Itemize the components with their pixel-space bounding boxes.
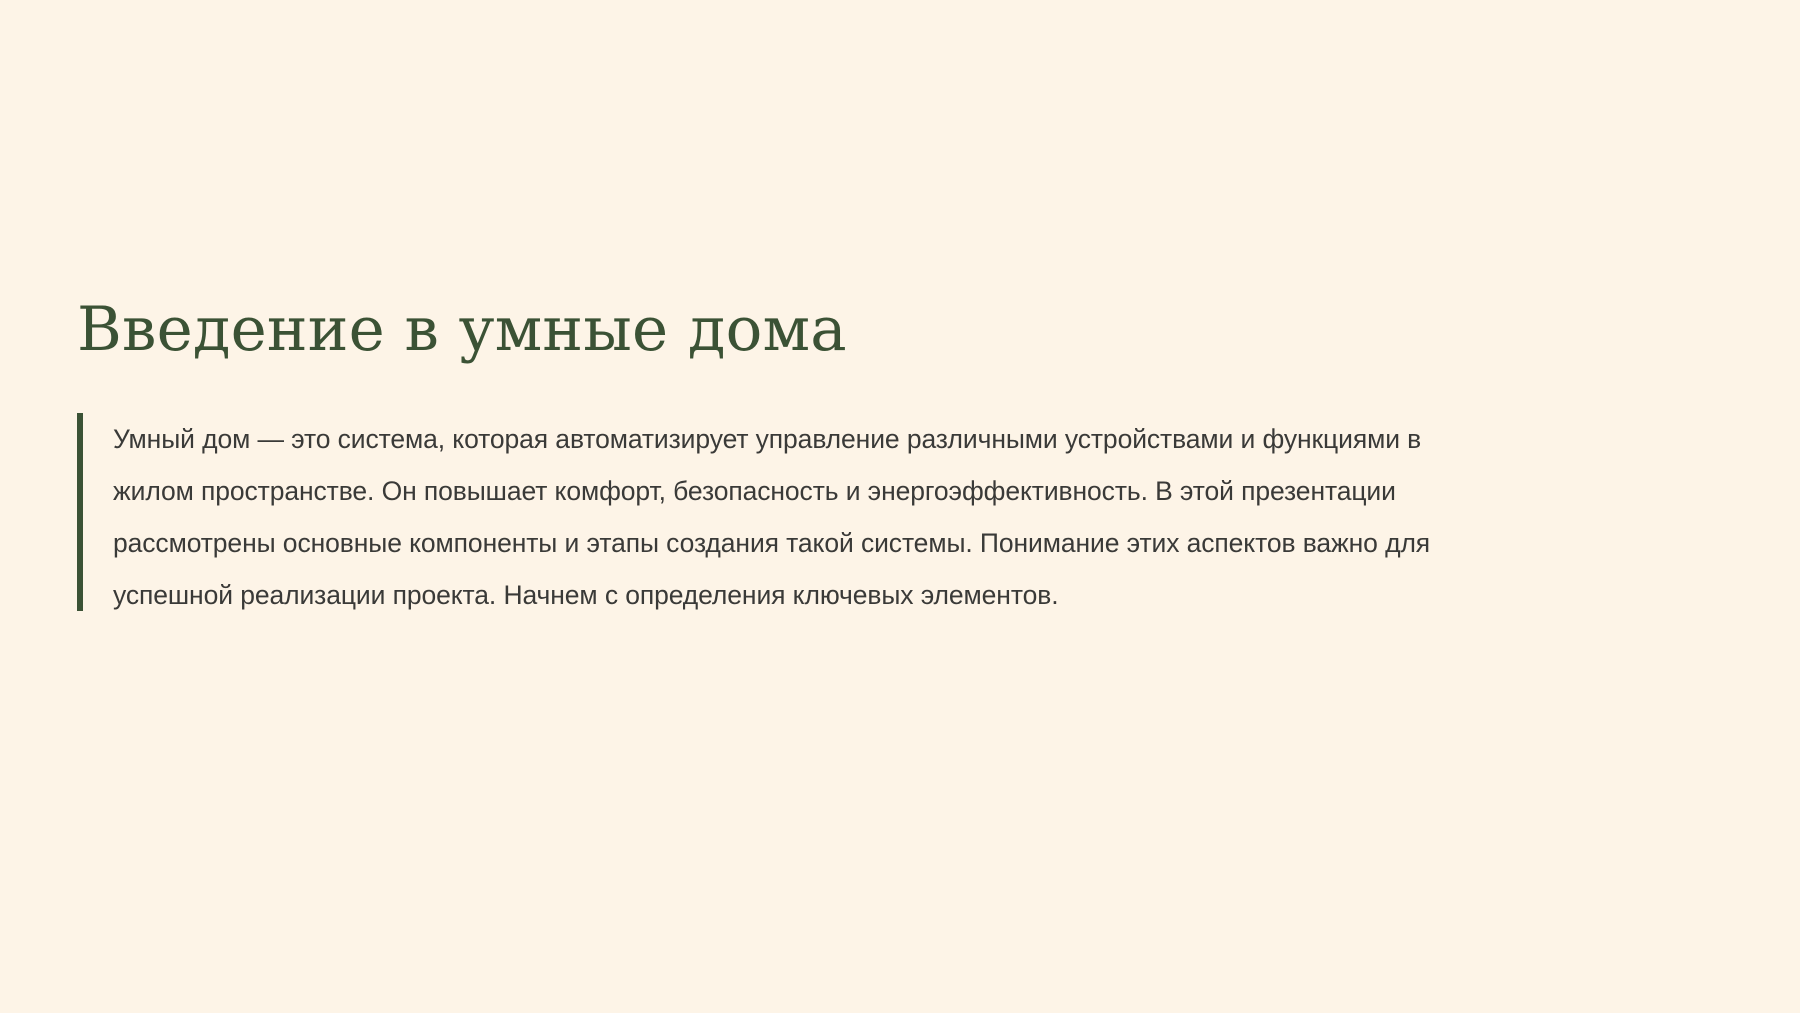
body-quote-block: Умный дом — это система, которая автомат… xyxy=(77,413,1477,621)
body-paragraph: Умный дом — это система, которая автомат… xyxy=(113,413,1479,621)
slide-content-block: Введение в умные дома Умный дом — это си… xyxy=(77,296,1477,621)
accent-bar xyxy=(77,413,83,611)
presentation-slide: Введение в умные дома Умный дом — это си… xyxy=(0,0,1800,1013)
page-title: Введение в умные дома xyxy=(77,296,1477,363)
